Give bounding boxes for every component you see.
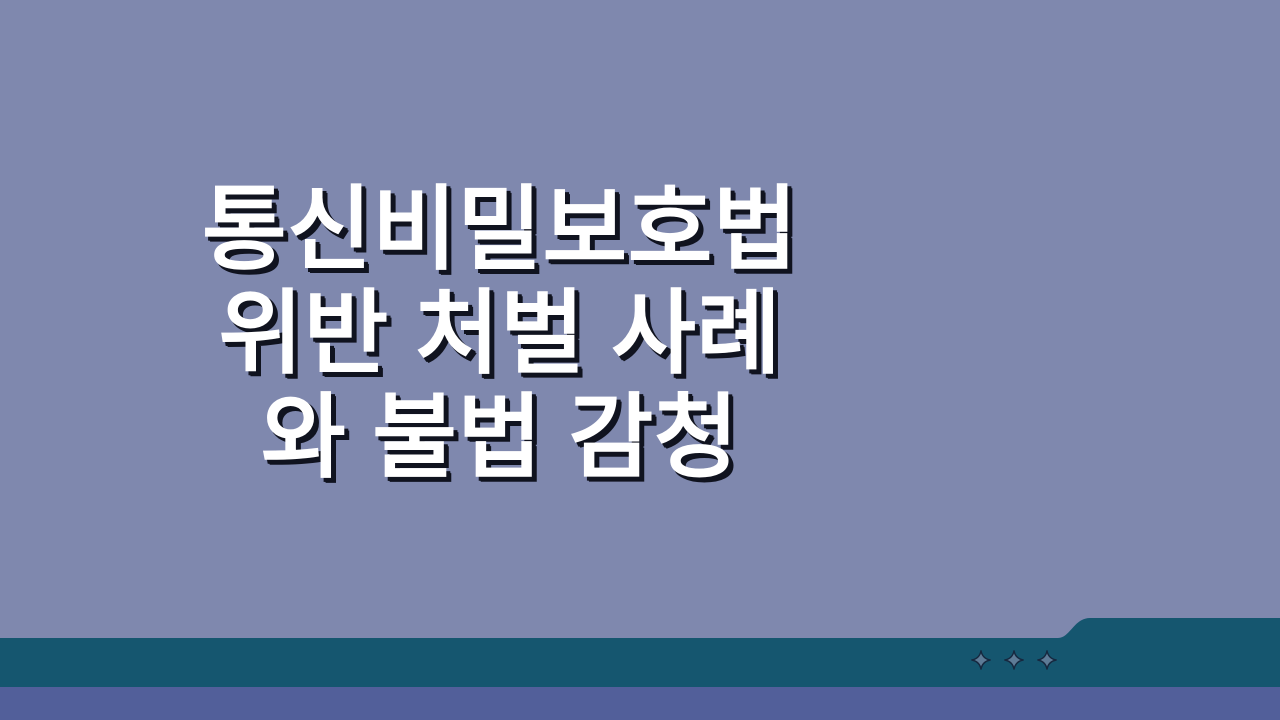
sparkle-diamond-icon xyxy=(971,650,991,670)
page-title: 통신비밀보호법 위반 처벌 사례 와 불법 감청 xyxy=(0,178,1000,490)
title-line-1: 통신비밀보호법 xyxy=(0,178,1000,282)
bottom-decoration-bars xyxy=(0,612,1280,720)
title-line-2: 위반 처벌 사례 xyxy=(0,282,1000,386)
bottom-bars-graphic xyxy=(0,612,1280,720)
teal-banner-shape xyxy=(0,618,1280,687)
thumbnail-canvas: 통신비밀보호법 위반 처벌 사례 와 불법 감청 xyxy=(0,0,1280,720)
sparkle-diamond-icon xyxy=(1004,650,1024,670)
title-line-3: 와 불법 감청 xyxy=(0,386,1000,490)
sparkle-diamond-icon xyxy=(1037,650,1057,670)
indigo-footer-shape xyxy=(0,687,1280,720)
sparkle-decoration-row xyxy=(971,643,1081,677)
